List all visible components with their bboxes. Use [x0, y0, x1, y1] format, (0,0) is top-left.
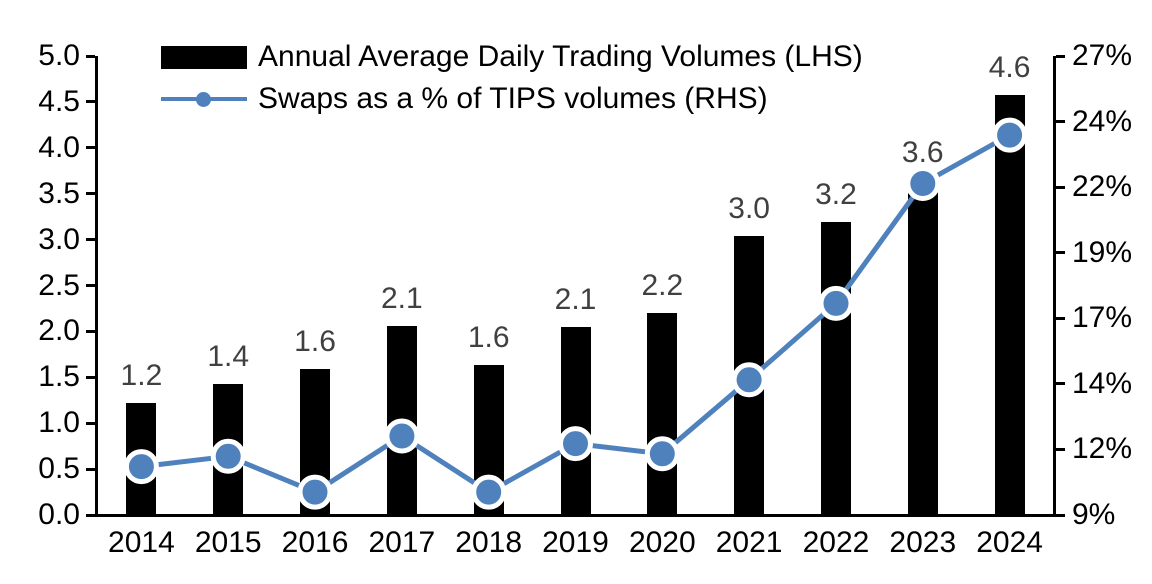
left-axis-tick [86, 100, 95, 103]
legend-label-bar: Annual Average Daily Trading Volumes (LH… [248, 42, 863, 72]
left-axis-tick [86, 238, 95, 241]
right-axis-tick-label: 22% [1072, 172, 1132, 202]
x-axis-label: 2021 [699, 528, 799, 558]
right-axis-tick [1056, 251, 1065, 254]
bar-data-label: 3.0 [709, 194, 789, 224]
left-axis-tick-label: 3.5 [38, 179, 80, 209]
left-axis-tick-label: 2.0 [38, 316, 80, 346]
x-axis-label: 2014 [91, 528, 191, 558]
bar [647, 313, 677, 515]
x-axis-label: 2020 [612, 528, 712, 558]
left-axis-tick-label: 0.0 [38, 500, 80, 530]
left-axis-tick [86, 376, 95, 379]
left-axis-line [95, 56, 98, 517]
left-axis-tick-label: 0.5 [38, 454, 80, 484]
left-axis-tick-label: 1.0 [38, 408, 80, 438]
bar-data-label: 1.6 [449, 323, 529, 353]
right-axis-tick [1056, 120, 1065, 123]
bar-data-label: 1.6 [275, 327, 355, 357]
x-axis-label: 2017 [352, 528, 452, 558]
left-axis-tick [86, 468, 95, 471]
left-axis-tick [86, 514, 95, 517]
line-marker-swatch-icon [160, 90, 248, 108]
bar [995, 95, 1025, 515]
legend: Annual Average Daily Trading Volumes (LH… [160, 36, 863, 120]
bar [908, 180, 938, 515]
x-axis-label: 2023 [873, 528, 973, 558]
right-axis-tick [1056, 55, 1065, 58]
right-axis-tick-label: 24% [1072, 107, 1132, 137]
left-axis-tick-label: 4.0 [38, 133, 80, 163]
x-axis-label: 2016 [265, 528, 365, 558]
x-axis-label: 2022 [786, 528, 886, 558]
bar-data-label: 4.6 [970, 53, 1050, 83]
dual-axis-chart: 0.00.51.01.52.02.53.03.54.04.55.0 9%12%1… [0, 0, 1152, 584]
right-axis-tick [1056, 448, 1065, 451]
left-axis-tick [86, 422, 95, 425]
bar [387, 326, 417, 515]
bar-data-label: 3.2 [796, 180, 876, 210]
left-axis-tick-label: 4.5 [38, 87, 80, 117]
bar-swatch-icon [160, 46, 248, 69]
right-axis-tick-label: 19% [1072, 238, 1132, 268]
bar-data-label: 1.2 [101, 361, 181, 391]
legend-item-bar: Annual Average Daily Trading Volumes (LH… [160, 36, 863, 78]
left-axis-tick [86, 330, 95, 333]
right-axis-tick [1056, 514, 1065, 517]
right-axis-tick [1056, 382, 1065, 385]
right-axis-tick [1056, 317, 1065, 320]
right-axis-tick [1056, 186, 1065, 189]
left-axis-tick-label: 1.5 [38, 362, 80, 392]
bar [213, 384, 243, 515]
left-axis-tick-label: 3.0 [38, 225, 80, 255]
left-axis-tick [86, 146, 95, 149]
bar-data-label: 2.1 [362, 284, 442, 314]
left-axis-tick-label: 2.5 [38, 271, 80, 301]
bar-data-label: 2.2 [622, 271, 702, 301]
legend-label-line: Swaps as a % of TIPS volumes (RHS) [248, 84, 768, 114]
x-axis-label: 2018 [439, 528, 539, 558]
left-axis-tick [86, 55, 95, 58]
bar [561, 327, 591, 515]
left-axis-tick-label: 5.0 [38, 41, 80, 71]
bar [734, 236, 764, 515]
right-axis-tick-label: 12% [1072, 434, 1132, 464]
legend-item-line: Swaps as a % of TIPS volumes (RHS) [160, 78, 863, 120]
x-axis-label: 2019 [526, 528, 626, 558]
bar-data-label: 3.6 [883, 138, 963, 168]
right-axis-tick-label: 14% [1072, 369, 1132, 399]
right-axis-tick-label: 27% [1072, 41, 1132, 71]
right-axis-tick-label: 17% [1072, 303, 1132, 333]
bar [126, 403, 156, 515]
left-axis-tick [86, 284, 95, 287]
bar [300, 369, 330, 515]
x-axis-label: 2024 [960, 528, 1060, 558]
bar-data-label: 2.1 [536, 285, 616, 315]
x-axis-label: 2015 [178, 528, 278, 558]
left-axis-tick [86, 192, 95, 195]
bar [474, 365, 504, 515]
bar-data-label: 1.4 [188, 342, 268, 372]
right-axis-tick-label: 9% [1072, 500, 1115, 530]
bar [821, 222, 851, 515]
